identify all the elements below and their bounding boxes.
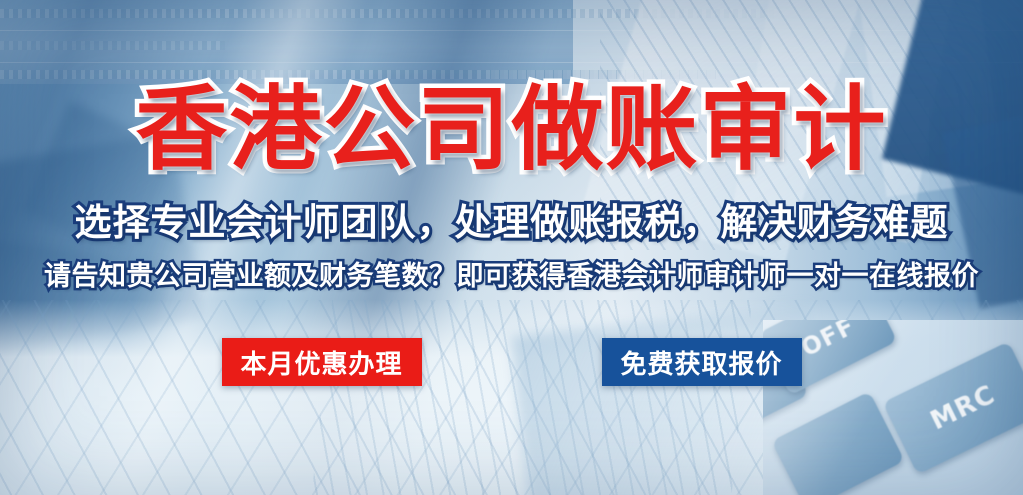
banner-subline-primary: 选择专业会计师团队，处理做账报税，解决财务难题 <box>75 204 949 241</box>
promo-banner: OFF MRC 香港公司做账审计 选择专业会计师团队，处理做账报税，解决财务难题… <box>0 0 1023 495</box>
cta-button-row: 本月优惠办理 免费获取报价 <box>0 338 1023 386</box>
banner-headline: 香港公司做账审计 <box>135 84 887 176</box>
banner-subline-secondary: 请告知贵公司营业额及财务笔数？即可获得香港会计师审计师一对一在线报价 <box>44 263 979 290</box>
free-quote-button[interactable]: 免费获取报价 <box>602 338 802 386</box>
banner-content: 香港公司做账审计 选择专业会计师团队，处理做账报税，解决财务难题 请告知贵公司营… <box>0 0 1023 495</box>
monthly-promotion-button[interactable]: 本月优惠办理 <box>222 338 422 386</box>
